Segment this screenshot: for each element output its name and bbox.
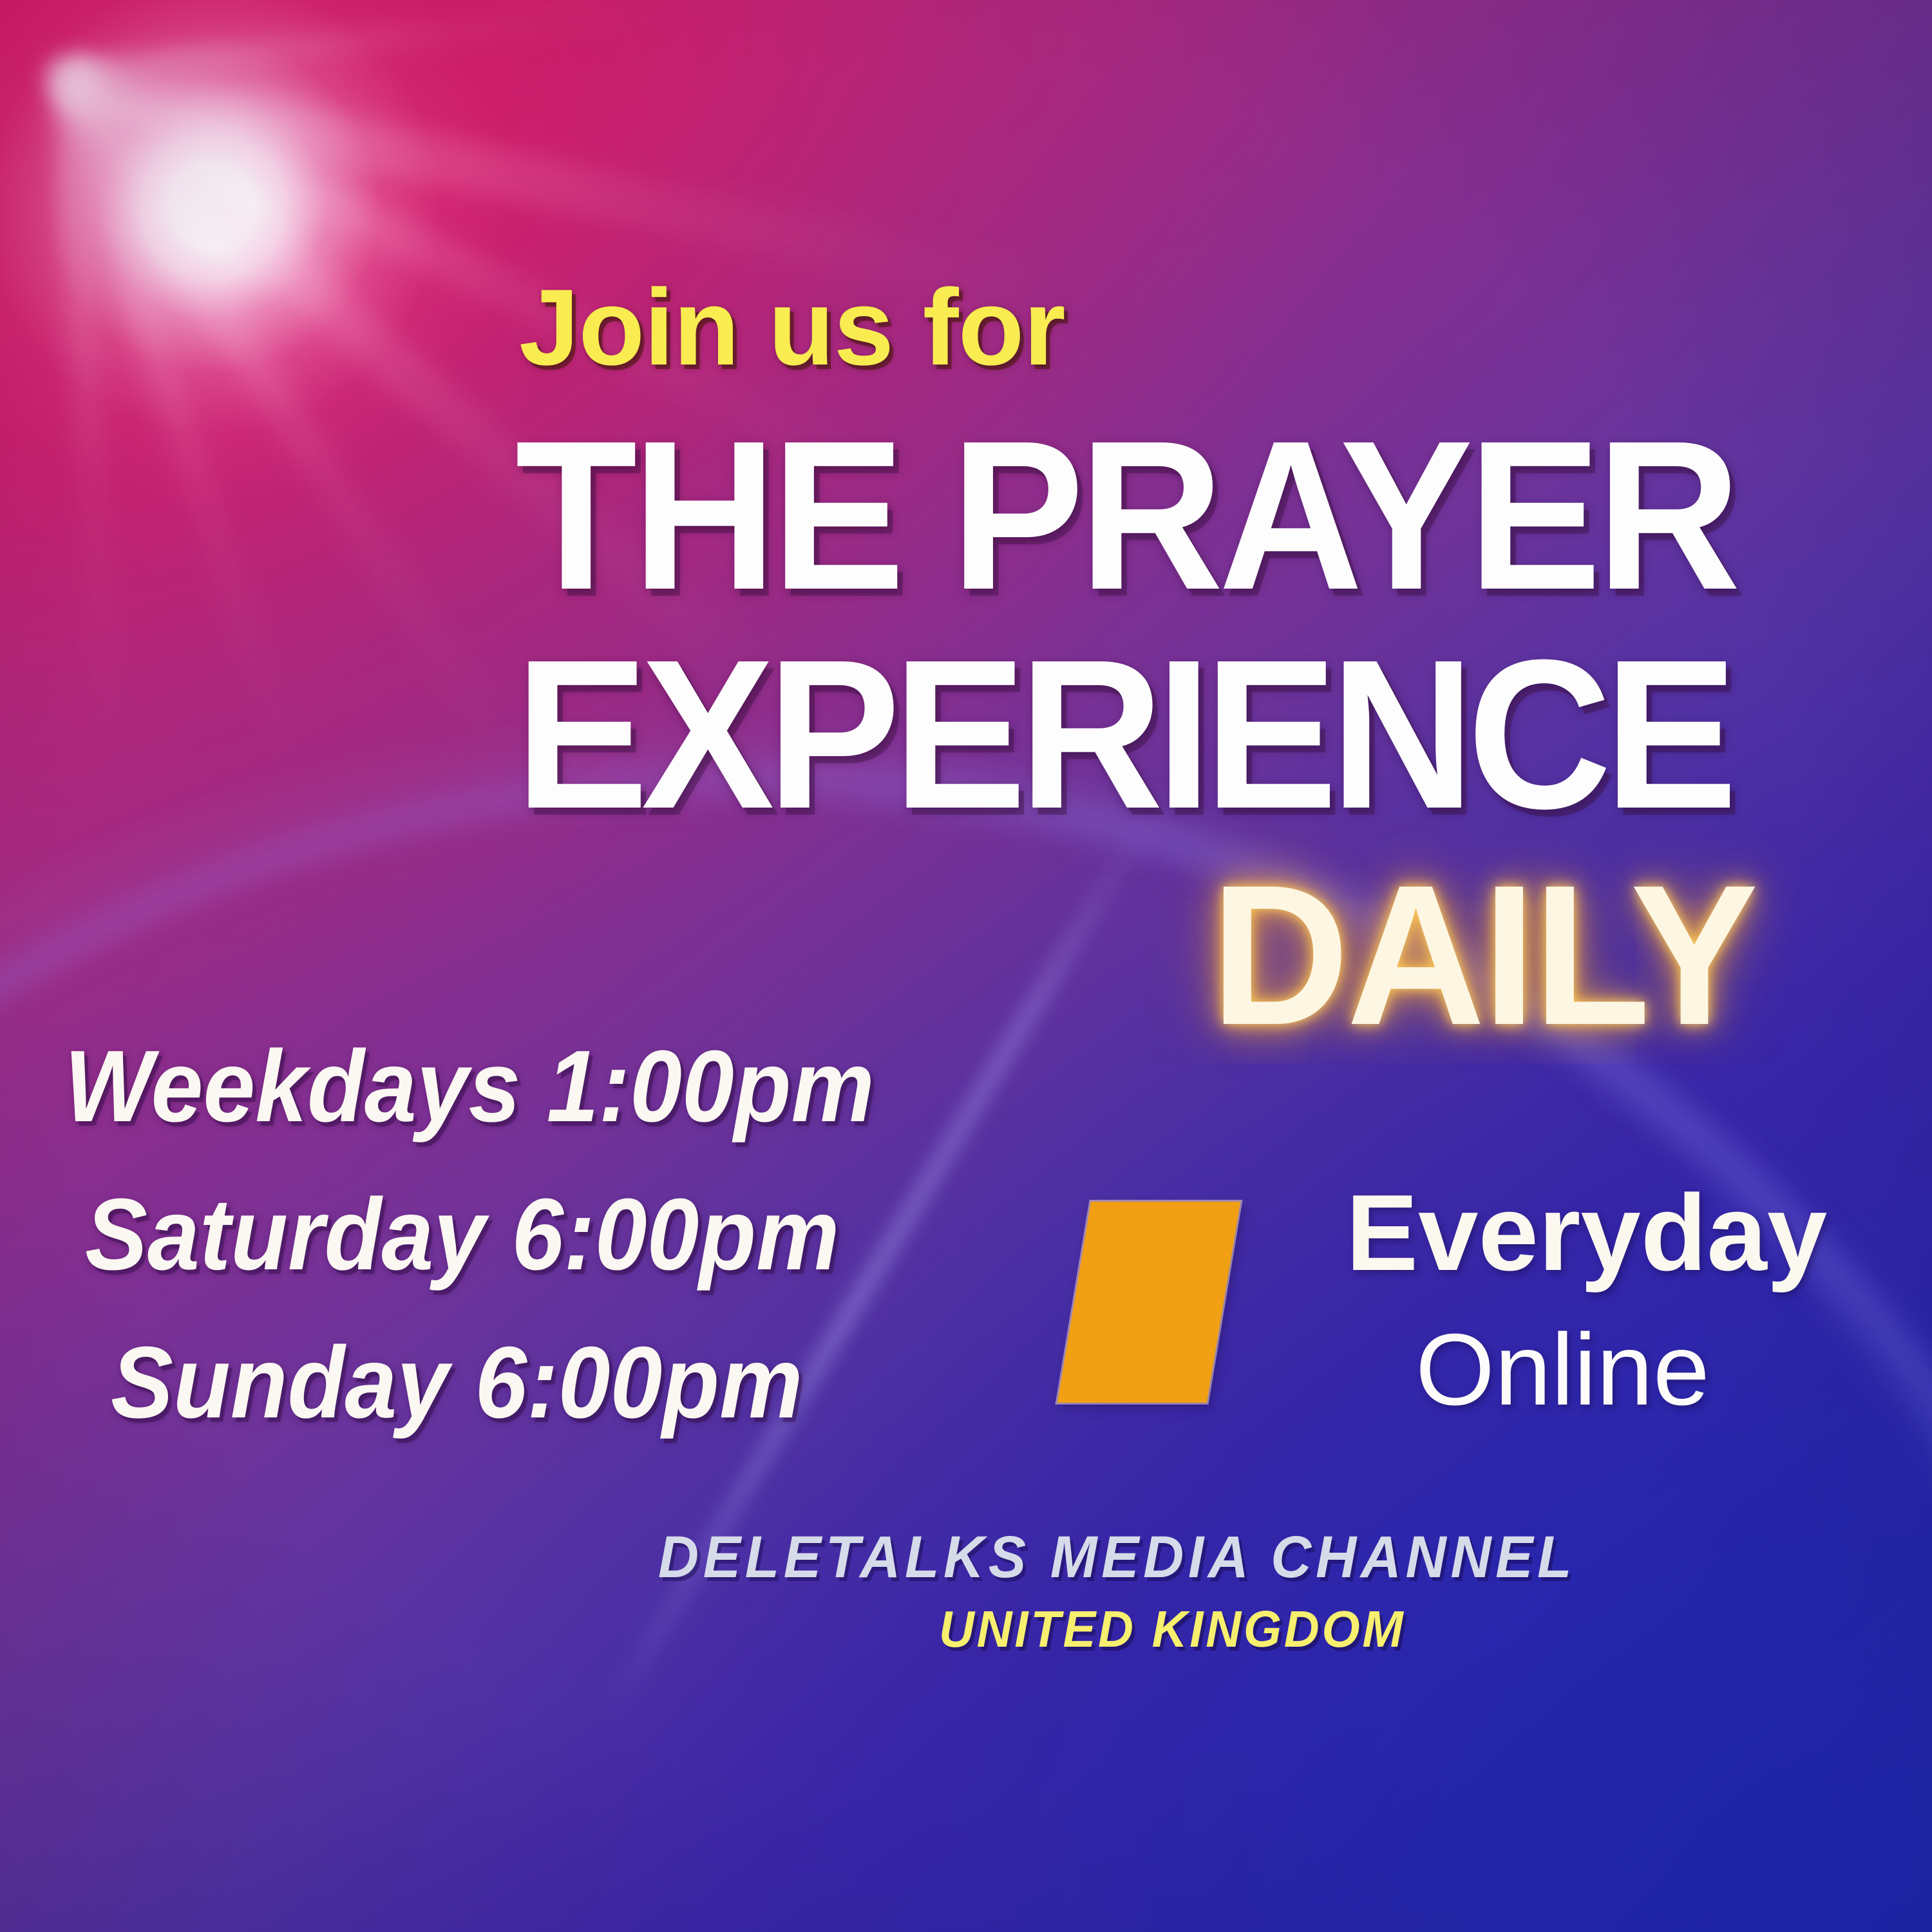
footer-country: UNITED KINGDOM <box>939 1604 1406 1655</box>
prayer-experience-poster: Join us for THE PRAYER EXPERIENCE DAILY … <box>0 0 1932 1932</box>
schedule-item-saturday: Saturday 6:00pm <box>85 1184 839 1285</box>
availability-secondary: Online <box>1416 1319 1710 1421</box>
schedule-item-weekdays: Weekdays 1:00pm <box>64 1036 875 1137</box>
schedule-item-sunday: Sunday 6:00pm <box>111 1332 802 1434</box>
headline-line-2: EXPERIENCE <box>515 634 1730 834</box>
orange-accent-parallelogram <box>1057 1202 1240 1403</box>
eyebrow-text: Join us for <box>519 273 1065 381</box>
frequency-daily: DAILY <box>1211 855 1756 1055</box>
availability-primary: Everyday <box>1346 1179 1827 1287</box>
poster-content: Join us for THE PRAYER EXPERIENCE DAILY … <box>0 0 1932 1932</box>
headline-line-1: THE PRAYER <box>515 415 1736 615</box>
footer-channel-name: DELETALKS MEDIA CHANNEL <box>658 1528 1576 1587</box>
